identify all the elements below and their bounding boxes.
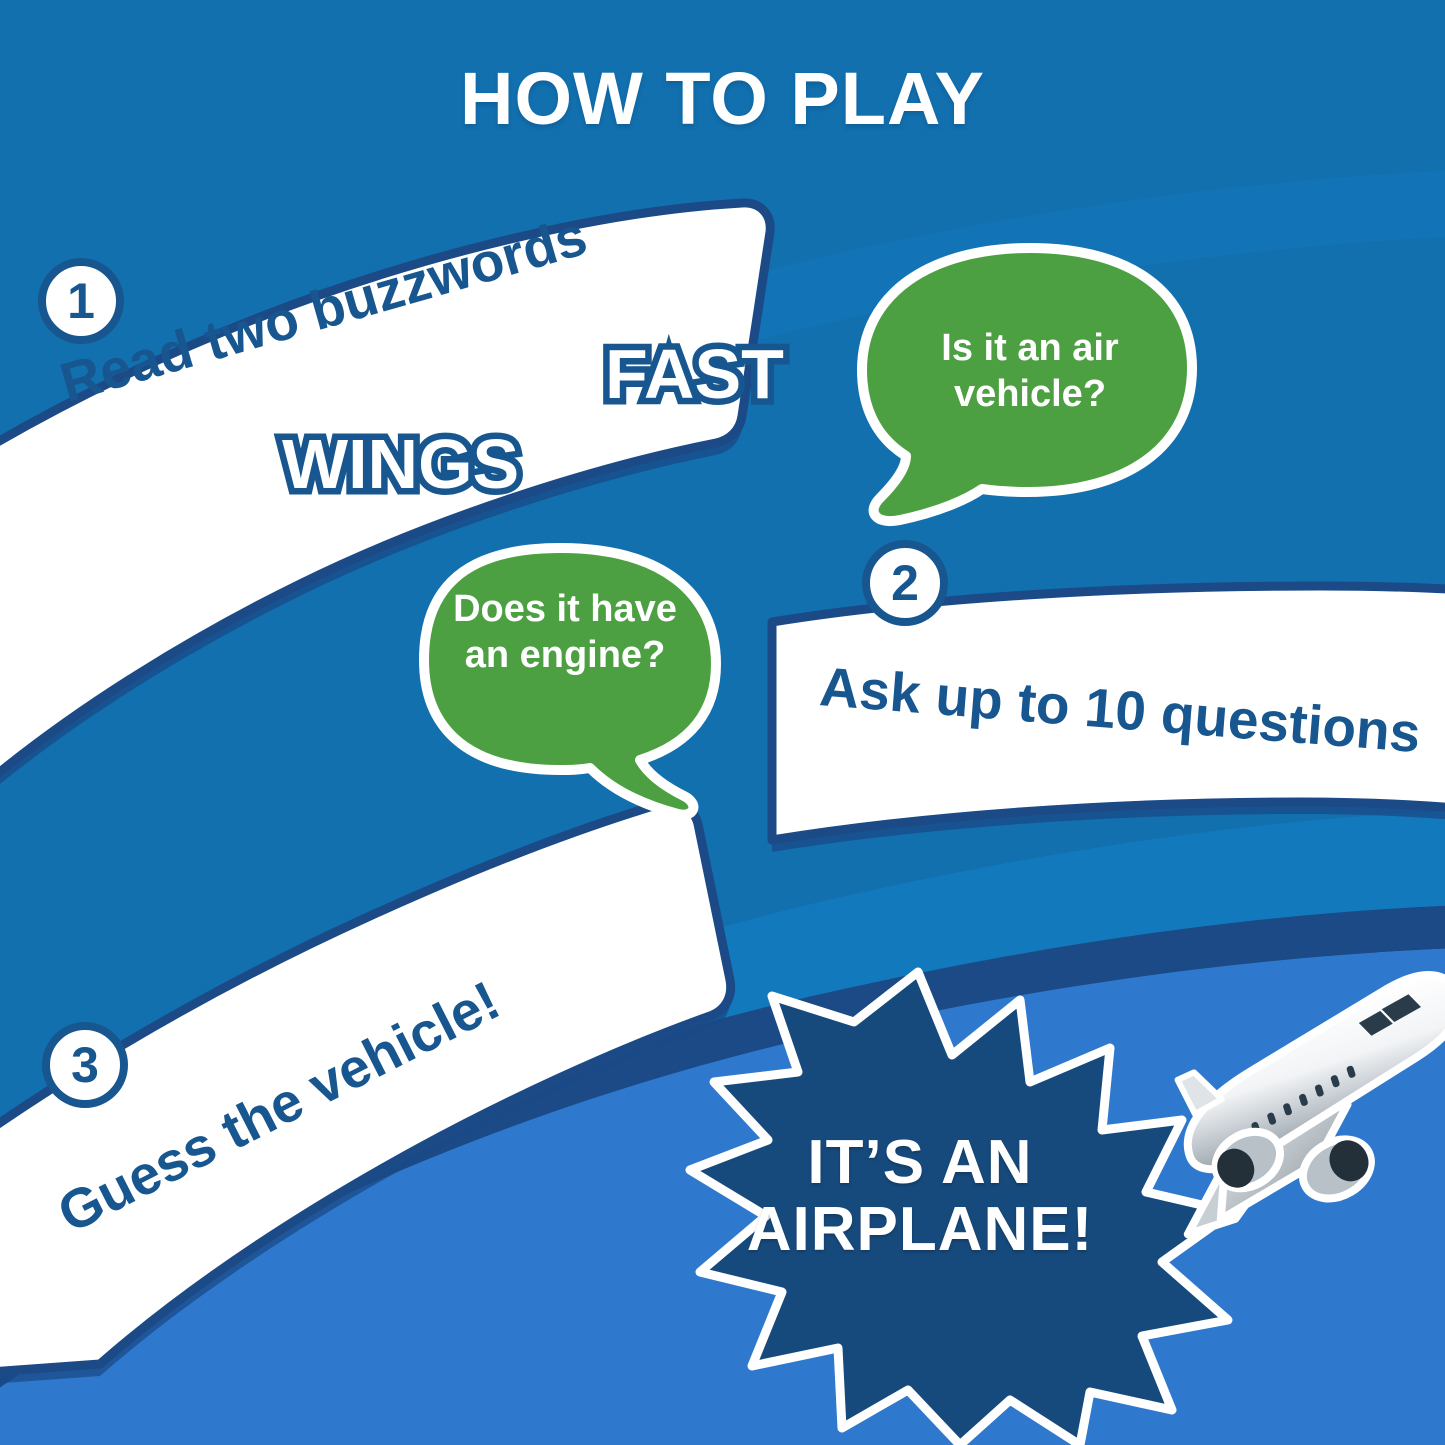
answer-line-1: IT’S AN <box>700 1130 1140 1197</box>
question-1-line-1: Is it an air <box>880 325 1180 371</box>
question-text-2: Does it have an engine? <box>420 586 710 679</box>
buzzword-wings: WINGS <box>282 424 519 504</box>
question-2-line-2: an engine? <box>420 632 710 678</box>
question-text-1: Is it an air vehicle? <box>880 325 1180 418</box>
step-number-badge-1: 1 <box>38 258 124 344</box>
page-title: HOW TO PLAY <box>0 56 1445 141</box>
question-1-line-2: vehicle? <box>880 371 1180 417</box>
answer-text: IT’S AN AIRPLANE! <box>700 1130 1140 1264</box>
step-number-badge-2: 2 <box>862 540 948 626</box>
how-to-play-infographic: HOW TO PLAY 1 Read two buzzwords FAST WI… <box>0 0 1445 1445</box>
buzzword-fast: FAST <box>605 334 784 414</box>
question-2-line-1: Does it have <box>420 586 710 632</box>
step-number-badge-3: 3 <box>42 1022 128 1108</box>
answer-line-2: AIRPLANE! <box>700 1197 1140 1264</box>
